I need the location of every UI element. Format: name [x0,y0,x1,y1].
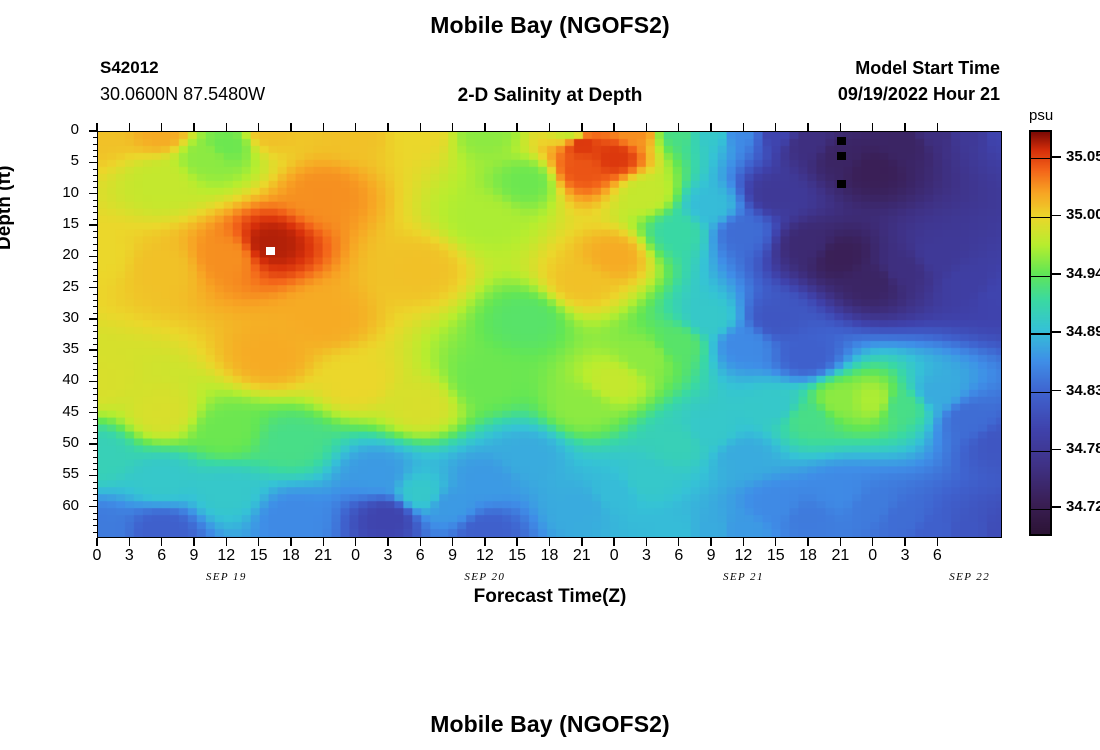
x-axis-top-tick [840,123,841,131]
x-axis-top-tick [355,123,356,131]
x-axis-top-tick [613,123,614,131]
x-axis-tick [581,538,582,546]
y-axis-minor-tick [93,463,97,464]
y-axis-minor-tick [93,457,97,458]
colorbar-tick [1052,390,1061,392]
x-axis-tick [904,538,905,546]
y-axis-minor-tick [93,369,97,370]
y-axis-minor-tick [93,200,97,201]
x-axis-tick-label: 6 [917,548,957,564]
x-axis-top-tick [775,123,776,131]
colorbar-tick [1052,449,1061,451]
x-axis-top-tick [516,123,517,131]
y-axis-minor-tick [93,331,97,332]
y-axis-minor-tick [93,262,97,263]
x-axis-tick [193,538,194,546]
colorbar-tick-label: 34.945 [1066,265,1100,282]
x-axis-top-tick [937,123,938,131]
x-axis-top-tick [129,123,130,131]
x-axis-top-tick [193,123,194,131]
colorbar-separator [1031,276,1050,277]
x-axis-tick [743,538,744,546]
x-axis-top-tick [678,123,679,131]
observation-marker [837,137,846,145]
heatmap-field [98,132,1001,537]
x-axis-top-tick [581,123,582,131]
y-axis-tick [89,224,97,225]
model-start-label: Model Start Time [838,58,1000,78]
x-axis-tick [387,538,388,546]
y-axis-minor-tick [93,400,97,401]
x-axis-tick [646,538,647,546]
x-axis-top-tick [872,123,873,131]
colorbar-tick [1052,506,1061,508]
y-axis-minor-tick [93,231,97,232]
y-axis-minor-tick [93,212,97,213]
colorbar-tick-label: 34.836 [1066,382,1100,399]
y-axis-minor-tick [93,156,97,157]
chart-subtitle: 2-D Salinity at Depth [330,85,770,107]
y-axis-minor-tick [93,469,97,470]
salinity-heatmap [97,131,1002,538]
y-axis-tick [89,443,97,444]
y-axis-label: Depth (ft) [0,166,16,250]
x-axis-tick [355,538,356,546]
y-axis-minor-tick [93,375,97,376]
x-axis-top-tick [387,123,388,131]
x-axis-tick [484,538,485,546]
station-header: S42012 30.0600N 87.5480W [100,58,265,106]
y-axis-minor-tick [93,150,97,151]
y-axis-minor-tick [93,432,97,433]
y-axis-tick-label: 20 [45,249,79,261]
y-axis-minor-tick [93,338,97,339]
y-axis-tick-label: 45 [45,406,79,418]
y-axis-tick-label: 55 [45,468,79,480]
x-axis-tick [549,538,550,546]
y-axis-minor-tick [93,325,97,326]
y-axis-minor-tick [93,250,97,251]
x-axis-tick [775,538,776,546]
x-axis-tick [678,538,679,546]
page-title-bottom: Mobile Bay (NGOFS2) [0,711,1100,738]
x-axis-tick [872,538,873,546]
y-axis-minor-tick [93,450,97,451]
y-axis-tick-label: 30 [45,312,79,324]
y-axis-tick-label: 5 [45,155,79,167]
model-start-value: 09/19/2022 Hour 21 [838,82,1000,106]
x-axis-tick [96,538,97,546]
y-axis-tick-label: 15 [45,218,79,230]
y-axis-minor-tick [93,181,97,182]
y-axis-minor-tick [93,275,97,276]
colorbar-separator [1031,509,1050,510]
observation-marker [837,180,846,188]
y-axis-tick [89,193,97,194]
page-title: Mobile Bay (NGOFS2) [0,12,1100,39]
y-axis-tick [89,506,97,507]
observation-marker [837,152,846,160]
x-axis-tick [161,538,162,546]
x-axis-tick [937,538,938,546]
colorbar-tick-label: 35.000 [1066,206,1100,223]
y-axis-tick [89,475,97,476]
y-axis-minor-tick [93,281,97,282]
x-axis-top-tick [743,123,744,131]
x-axis-tick [516,538,517,546]
x-axis-tick [420,538,421,546]
x-axis-date-label: SEP 21 [698,571,788,583]
x-axis-date-label: SEP 19 [181,571,271,583]
y-axis-minor-tick [93,488,97,489]
y-axis-tick [89,381,97,382]
y-axis-minor-tick [93,269,97,270]
y-axis-minor-tick [93,206,97,207]
y-axis-tick [89,349,97,350]
x-axis-date-label: SEP 20 [440,571,530,583]
x-axis-top-tick [484,123,485,131]
station-id: S42012 [100,58,265,78]
y-axis-minor-tick [93,169,97,170]
x-axis-top-tick [807,123,808,131]
x-axis-top-tick [258,123,259,131]
y-axis-minor-tick [93,407,97,408]
y-axis-minor-tick [93,494,97,495]
y-axis-tick [89,256,97,257]
y-axis-minor-tick [93,187,97,188]
y-axis-minor-tick [93,482,97,483]
colorbar-tick-label: 34.781 [1066,440,1100,457]
x-axis-top-tick [290,123,291,131]
y-axis-minor-tick [93,425,97,426]
y-axis-tick [89,162,97,163]
y-axis-minor-tick [93,219,97,220]
y-axis-minor-tick [93,144,97,145]
y-axis-tick [89,287,97,288]
y-axis-tick-label: 0 [45,124,79,136]
x-axis-top-tick [452,123,453,131]
y-axis-minor-tick [93,500,97,501]
colorbar [1029,130,1052,536]
x-axis-top-tick [226,123,227,131]
colorbar-tick-label: 34.891 [1066,323,1100,340]
x-axis-top-tick [161,123,162,131]
colorbar-separator [1031,158,1050,159]
y-axis-minor-tick [93,438,97,439]
model-header: Model Start Time 09/19/2022 Hour 21 [838,58,1000,106]
y-axis-tick-label: 60 [45,500,79,512]
y-axis-tick-label: 10 [45,187,79,199]
x-axis-tick [840,538,841,546]
y-axis-tick [89,318,97,319]
y-axis-minor-tick [93,175,97,176]
station-coordinates: 30.0600N 87.5480W [100,82,265,106]
colorbar-tick [1052,331,1061,333]
y-axis-tick-label: 50 [45,437,79,449]
x-axis-top-tick [904,123,905,131]
y-axis-minor-tick [93,300,97,301]
colorbar-tick [1052,215,1061,217]
x-axis-date-label: SEP 22 [925,571,1015,583]
y-axis-tick-label: 35 [45,343,79,355]
colorbar-separator [1031,451,1050,452]
colorbar-separator [1031,333,1050,334]
x-axis-label: Forecast Time(Z) [0,586,1100,608]
x-axis-tick [226,538,227,546]
y-axis-tick-label: 40 [45,374,79,386]
y-axis-tick [89,412,97,413]
figure-root: Mobile Bay (NGOFS2) S42012 30.0600N 87.5… [0,0,1100,750]
y-axis-minor-tick [93,344,97,345]
y-axis-minor-tick [93,294,97,295]
x-axis-tick [323,538,324,546]
y-axis-minor-tick [93,525,97,526]
observation-marker [266,247,275,255]
y-axis-minor-tick [93,237,97,238]
y-axis-minor-tick [93,137,97,138]
y-axis-minor-tick [93,394,97,395]
y-axis-minor-tick [93,513,97,514]
y-axis-minor-tick [93,313,97,314]
colorbar-tick [1052,156,1061,158]
x-axis-tick [129,538,130,546]
x-axis-top-tick [646,123,647,131]
y-axis-minor-tick [93,306,97,307]
colorbar-separator [1031,217,1050,218]
y-axis-minor-tick [93,419,97,420]
colorbar-tick-label: 34.727 [1066,498,1100,515]
x-axis-tick [452,538,453,546]
x-axis-tick [258,538,259,546]
x-axis-top-tick [323,123,324,131]
x-axis-top-tick [549,123,550,131]
y-axis-tick-label: 25 [45,281,79,293]
y-axis-minor-tick [93,519,97,520]
x-axis-top-tick [710,123,711,131]
y-axis-minor-tick [93,356,97,357]
x-axis-tick [710,538,711,546]
colorbar-separator [1031,392,1050,393]
x-axis-top-tick [420,123,421,131]
y-axis-minor-tick [93,244,97,245]
x-axis-top-tick [96,123,97,131]
x-axis-tick [290,538,291,546]
y-axis-minor-tick [93,532,97,533]
y-axis-minor-tick [93,363,97,364]
colorbar-tick [1052,273,1061,275]
x-axis-tick [807,538,808,546]
x-axis-tick [613,538,614,546]
y-axis-minor-tick [93,388,97,389]
colorbar-tick-label: 35.055 [1066,148,1100,165]
colorbar-unit-label: psu [1029,107,1053,124]
